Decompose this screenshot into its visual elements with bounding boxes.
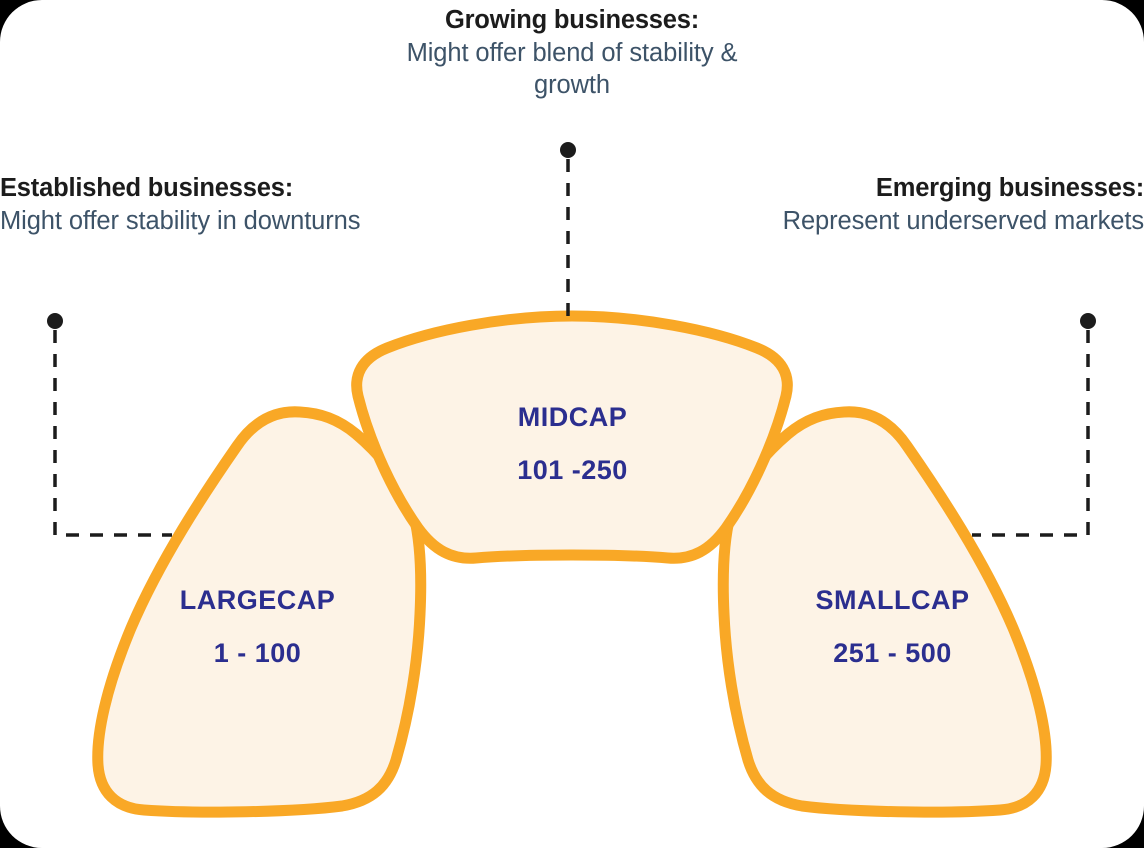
callout-emerging-body: Represent underserved markets bbox=[744, 205, 1144, 238]
midcap-name: MIDCAP bbox=[450, 402, 695, 433]
largecap-label: LARGECAP 1 - 100 bbox=[135, 585, 380, 669]
callout-growing-body: Might offer blend of stability & growth bbox=[372, 37, 772, 102]
smallcap-name: SMALLCAP bbox=[770, 585, 1015, 616]
midcap-label: MIDCAP 101 -250 bbox=[450, 402, 695, 486]
largecap-range: 1 - 100 bbox=[135, 638, 380, 669]
leader-dot-emerging bbox=[1080, 313, 1096, 329]
leader-dot-growing bbox=[560, 142, 576, 158]
smallcap-label: SMALLCAP 251 - 500 bbox=[770, 585, 1015, 669]
smallcap-range: 251 - 500 bbox=[770, 638, 1015, 669]
largecap-name: LARGECAP bbox=[135, 585, 380, 616]
callout-established-heading: Established businesses: bbox=[0, 172, 400, 205]
leader-line-emerging bbox=[972, 313, 1096, 535]
leader-line-established bbox=[47, 313, 172, 535]
callout-growing-heading: Growing businesses: bbox=[372, 4, 772, 37]
diagram-canvas: Established businesses: Might offer stab… bbox=[0, 0, 1144, 848]
callout-established-body: Might offer stability in downturns bbox=[0, 205, 400, 238]
leader-dot-established bbox=[47, 313, 63, 329]
leader-line-growing bbox=[560, 142, 576, 320]
callout-emerging: Emerging businesses: Represent underserv… bbox=[744, 172, 1144, 237]
midcap-range: 101 -250 bbox=[450, 455, 695, 486]
callout-emerging-heading: Emerging businesses: bbox=[744, 172, 1144, 205]
callout-growing: Growing businesses: Might offer blend of… bbox=[372, 4, 772, 102]
callout-established: Established businesses: Might offer stab… bbox=[0, 172, 400, 237]
